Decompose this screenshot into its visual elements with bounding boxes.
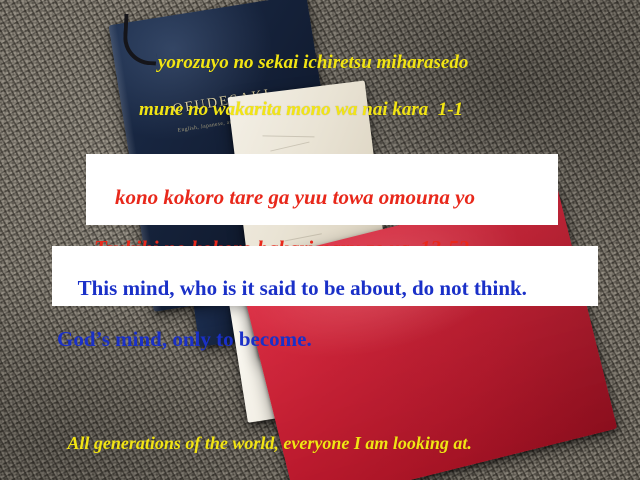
english-translation-bottom-line1: All generations of the world, everyone I… xyxy=(67,433,472,453)
romanized-verse-top: yorozuyo no sekai ichiretsu miharasedo m… xyxy=(139,28,468,167)
english-translation-middle-line1: This mind, who is it said to be about, d… xyxy=(78,276,527,300)
romanized-verse-top-line1: yorozuyo no sekai ichiretsu miharasedo xyxy=(158,52,468,73)
romanized-verse-top-line2: mune no wakarita mono wa nai kara 1-1 xyxy=(139,98,468,121)
slide-canvas: OFUDESAKI English, Japanese, and Romaniz… xyxy=(0,0,640,480)
english-translation-middle: This mind, who is it said to be about, d… xyxy=(57,250,527,404)
romanized-verse-middle-line1: kono kokoro tare ga yuu towa omouna yo xyxy=(115,185,475,209)
english-translation-middle-line2: God’s mind, only to become. xyxy=(57,327,527,353)
english-translation-bottom: All generations of the world, everyone I… xyxy=(50,411,502,480)
